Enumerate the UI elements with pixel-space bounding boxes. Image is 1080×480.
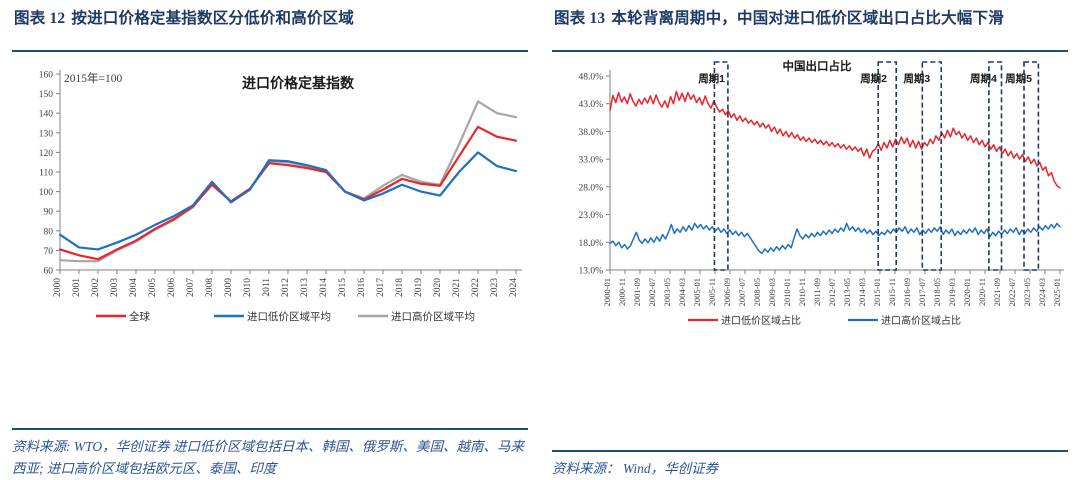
chart-title: 进口价格定基指数 — [242, 75, 355, 91]
period-highlight-box — [878, 62, 896, 270]
period-label: 周期3 — [903, 72, 930, 85]
x-tick-label: 2000-01 — [602, 278, 612, 306]
figure-13-title: 本轮背离周期中，中国对进口低价区域出口占比大幅下滑 — [611, 10, 1004, 27]
x-tick-label: 2020-11 — [977, 278, 987, 306]
figure-13-source: 资料来源： Wind，华创证券 — [548, 452, 1072, 480]
x-tick-label: 2009-03 — [767, 278, 777, 306]
y-tick-label: 43.0% — [578, 100, 603, 110]
figure-panel-right: 图表 13本轮背离周期中，中国对进口低价区域出口占比大幅下滑 13.0%18.0… — [540, 0, 1080, 480]
x-tick-label: 2012-07 — [827, 278, 837, 306]
x-tick-label: 2004 — [129, 278, 139, 297]
figure-13-label: 图表 13 — [554, 10, 611, 27]
x-tick-label: 2019 — [414, 278, 424, 297]
series-line-全球 — [60, 127, 516, 259]
legend-label: 全球 — [129, 310, 150, 323]
y-tick-label: 100 — [39, 188, 54, 198]
y-tick-label: 160 — [39, 71, 54, 81]
x-tick-label: 2005 — [148, 278, 158, 297]
chart-title: 中国出口占比 — [783, 59, 852, 73]
figure-13-heading: 图表 13本轮背离周期中，中国对进口低价区域出口占比大幅下滑 — [548, 0, 1072, 46]
x-tick-label: 2003 — [110, 278, 120, 297]
x-tick-label: 2004-03 — [677, 278, 687, 306]
x-tick-label: 2023 — [490, 278, 500, 297]
x-tick-label: 2022-07 — [1007, 278, 1017, 306]
x-tick-label: 2017-07 — [917, 278, 927, 306]
figure-13-chart-area: 13.0%18.0%23.0%28.0%33.0%38.0%43.0%48.0%… — [548, 52, 1072, 450]
x-tick-label: 2016-09 — [902, 278, 912, 306]
figure-12-title: 按进口价格定基指数区分低价和高价区域 — [71, 10, 354, 27]
x-tick-label: 2013-05 — [842, 278, 852, 306]
y-tick-label: 110 — [39, 169, 53, 179]
period-label: 周期4 — [970, 72, 997, 85]
y-tick-label: 33.0% — [578, 156, 603, 166]
x-tick-label: 2015 — [338, 278, 348, 297]
x-tick-label: 2010-01 — [782, 278, 792, 306]
x-tick-label: 2021-09 — [992, 278, 1002, 306]
x-tick-label: 2012 — [281, 278, 291, 297]
figure-12-heading: 图表 12按进口价格定基指数区分低价和高价区域 — [8, 0, 532, 46]
x-tick-label: 2011 — [262, 278, 272, 297]
x-tick-label: 2024-03 — [1037, 278, 1047, 306]
x-tick-label: 2023-05 — [1022, 278, 1032, 306]
x-tick-label: 2009 — [224, 278, 234, 297]
x-tick-label: 2000 — [53, 278, 63, 297]
figure-12-source: 资料来源: WTO，华创证券 进口低价区域包括日本、韩国、俄罗斯、美国、越南、马… — [8, 430, 532, 480]
x-tick-label: 2018-05 — [932, 278, 942, 306]
x-tick-label: 2005-01 — [692, 278, 702, 306]
y-tick-label: 38.0% — [578, 128, 603, 138]
x-tick-label: 2021 — [452, 278, 462, 297]
period-highlight-box — [922, 62, 941, 270]
legend-label: 进口高价区域占比 — [881, 314, 961, 327]
y-tick-label: 140 — [39, 110, 54, 120]
x-tick-label: 2016 — [357, 278, 367, 297]
period-highlight-box — [714, 62, 728, 270]
y-tick-label: 23.0% — [578, 211, 603, 221]
x-tick-label: 2019-03 — [947, 278, 957, 306]
x-tick-label: 2011-09 — [812, 278, 822, 306]
series-line-进口低价区域占比 — [610, 92, 1060, 188]
y-tick-label: 18.0% — [578, 239, 603, 249]
import-price-index-chart: 2015年=100进口价格定基指数60708090100110120130140… — [8, 52, 532, 352]
y-axis-note: 2015年=100 — [64, 71, 122, 85]
y-tick-label: 90 — [44, 208, 54, 218]
y-tick-label: 120 — [39, 149, 54, 159]
x-tick-label: 2008 — [205, 278, 215, 297]
x-tick-label: 2024 — [509, 278, 519, 297]
figure-12-chart-area: 2015年=100进口价格定基指数60708090100110120130140… — [8, 52, 532, 428]
y-tick-label: 60 — [44, 267, 54, 277]
x-tick-label: 2007 — [186, 278, 196, 297]
x-tick-label: 2022 — [471, 278, 481, 297]
x-tick-label: 2006 — [167, 278, 177, 297]
report-figures-page: 图表 12按进口价格定基指数区分低价和高价区域 2015年=100进口价格定基指… — [0, 0, 1080, 480]
figure-12-label: 图表 12 — [14, 10, 71, 27]
x-tick-label: 2020 — [433, 278, 443, 297]
period-label: 周期2 — [860, 72, 887, 85]
x-tick-label: 2005-11 — [707, 278, 717, 306]
x-tick-label: 2013 — [300, 278, 310, 297]
x-tick-label: 2000-11 — [617, 278, 627, 306]
x-tick-label: 2010 — [243, 278, 253, 297]
y-tick-label: 150 — [39, 90, 54, 100]
x-tick-label: 2017 — [376, 278, 386, 297]
x-tick-label: 2007-07 — [737, 278, 747, 306]
x-tick-label: 2010-11 — [797, 278, 807, 306]
y-tick-label: 70 — [44, 247, 54, 257]
x-tick-label: 2003-05 — [662, 278, 672, 306]
x-tick-label: 2008-05 — [752, 278, 762, 306]
x-tick-label: 2015-11 — [887, 278, 897, 306]
period-label: 周期5 — [1005, 72, 1032, 85]
period-highlight-box — [989, 62, 1002, 270]
x-tick-label: 2001 — [72, 278, 82, 297]
china-export-share-chart: 13.0%18.0%23.0%28.0%33.0%38.0%43.0%48.0%… — [548, 52, 1072, 357]
x-tick-label: 2006-09 — [722, 278, 732, 306]
x-tick-label: 2018 — [395, 278, 405, 297]
x-tick-label: 2020-01 — [962, 278, 972, 306]
x-tick-label: 2014 — [319, 278, 329, 297]
legend-label: 进口低价区域平均 — [247, 310, 331, 323]
x-tick-label: 2002-07 — [647, 278, 657, 306]
series-line-进口高价区域占比 — [610, 223, 1060, 253]
y-tick-label: 28.0% — [578, 183, 603, 193]
y-tick-label: 80 — [44, 227, 54, 237]
period-label: 周期1 — [698, 72, 725, 85]
x-tick-label: 2002 — [91, 278, 101, 297]
legend-label: 进口低价区域占比 — [721, 314, 801, 327]
x-tick-label: 2014-03 — [857, 278, 867, 306]
x-tick-label: 2025-01 — [1052, 278, 1062, 306]
y-tick-label: 13.0% — [578, 267, 603, 277]
x-tick-label: 2001-09 — [632, 278, 642, 306]
legend-label: 进口高价区域平均 — [391, 310, 475, 323]
figure-panel-left: 图表 12按进口价格定基指数区分低价和高价区域 2015年=100进口价格定基指… — [0, 0, 540, 480]
y-tick-label: 48.0% — [578, 73, 603, 83]
x-tick-label: 2015-01 — [872, 278, 882, 306]
y-tick-label: 130 — [39, 129, 54, 139]
